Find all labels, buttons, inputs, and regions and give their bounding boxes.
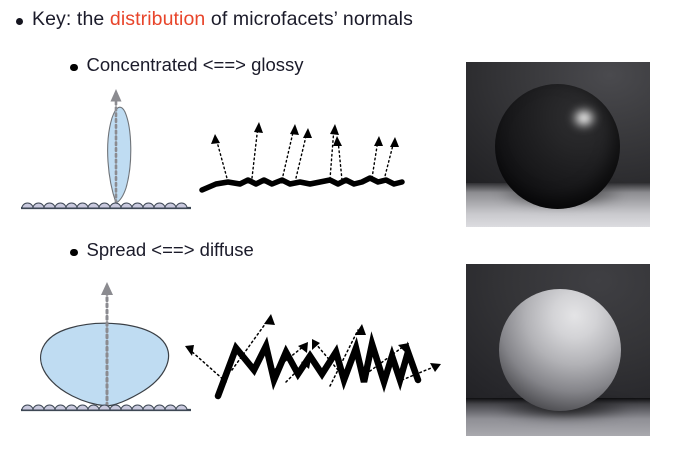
surface-microfacet-bumps: [22, 203, 187, 208]
image-glossy-sphere: [466, 62, 650, 227]
slide-title-bullet: Key: the distribution of microfacets’ no…: [16, 8, 413, 31]
figure-narrow-lobe: [8, 84, 203, 234]
sub-bullet-diffuse: Spread <==> diffuse: [70, 239, 254, 261]
bullet-dot-icon: [70, 64, 78, 72]
wide-lobe-shape: [41, 323, 169, 406]
rough-surface: [218, 344, 418, 396]
title-prefix: Key: the: [32, 8, 110, 30]
fine-rough-surface: [202, 178, 402, 190]
glossy-sphere-body: [495, 84, 620, 209]
figure-rough-microfacets: [170, 308, 445, 420]
normal-arrow-head: [111, 89, 122, 102]
reflection-ray-heads: [211, 122, 399, 147]
normal-arrow-head: [101, 282, 113, 295]
image-diffuse-sphere: [466, 264, 650, 436]
title-highlight-distribution: distribution: [110, 8, 206, 30]
diffuse-sphere-body: [499, 289, 621, 411]
figure-fine-microfacets: [190, 104, 420, 204]
sub-bullet-label-glossy: Concentrated <==> glossy: [87, 54, 304, 76]
narrow-lobe-shape: [108, 107, 131, 203]
glossy-specular-highlight: [570, 106, 598, 130]
bullet-dot-icon: [70, 249, 78, 257]
title-suffix: of microfacets’ normals: [205, 8, 413, 30]
sub-bullet-label-diffuse: Spread <==> diffuse: [87, 239, 254, 261]
slide-canvas: Key: the distribution of microfacets’ no…: [0, 0, 677, 451]
page-title: Key: the distribution of microfacets’ no…: [32, 8, 413, 31]
surface-microfacet-bumps: [22, 405, 187, 410]
sub-bullet-glossy: Concentrated <==> glossy: [70, 54, 304, 76]
bullet-dot-icon: [16, 18, 23, 25]
